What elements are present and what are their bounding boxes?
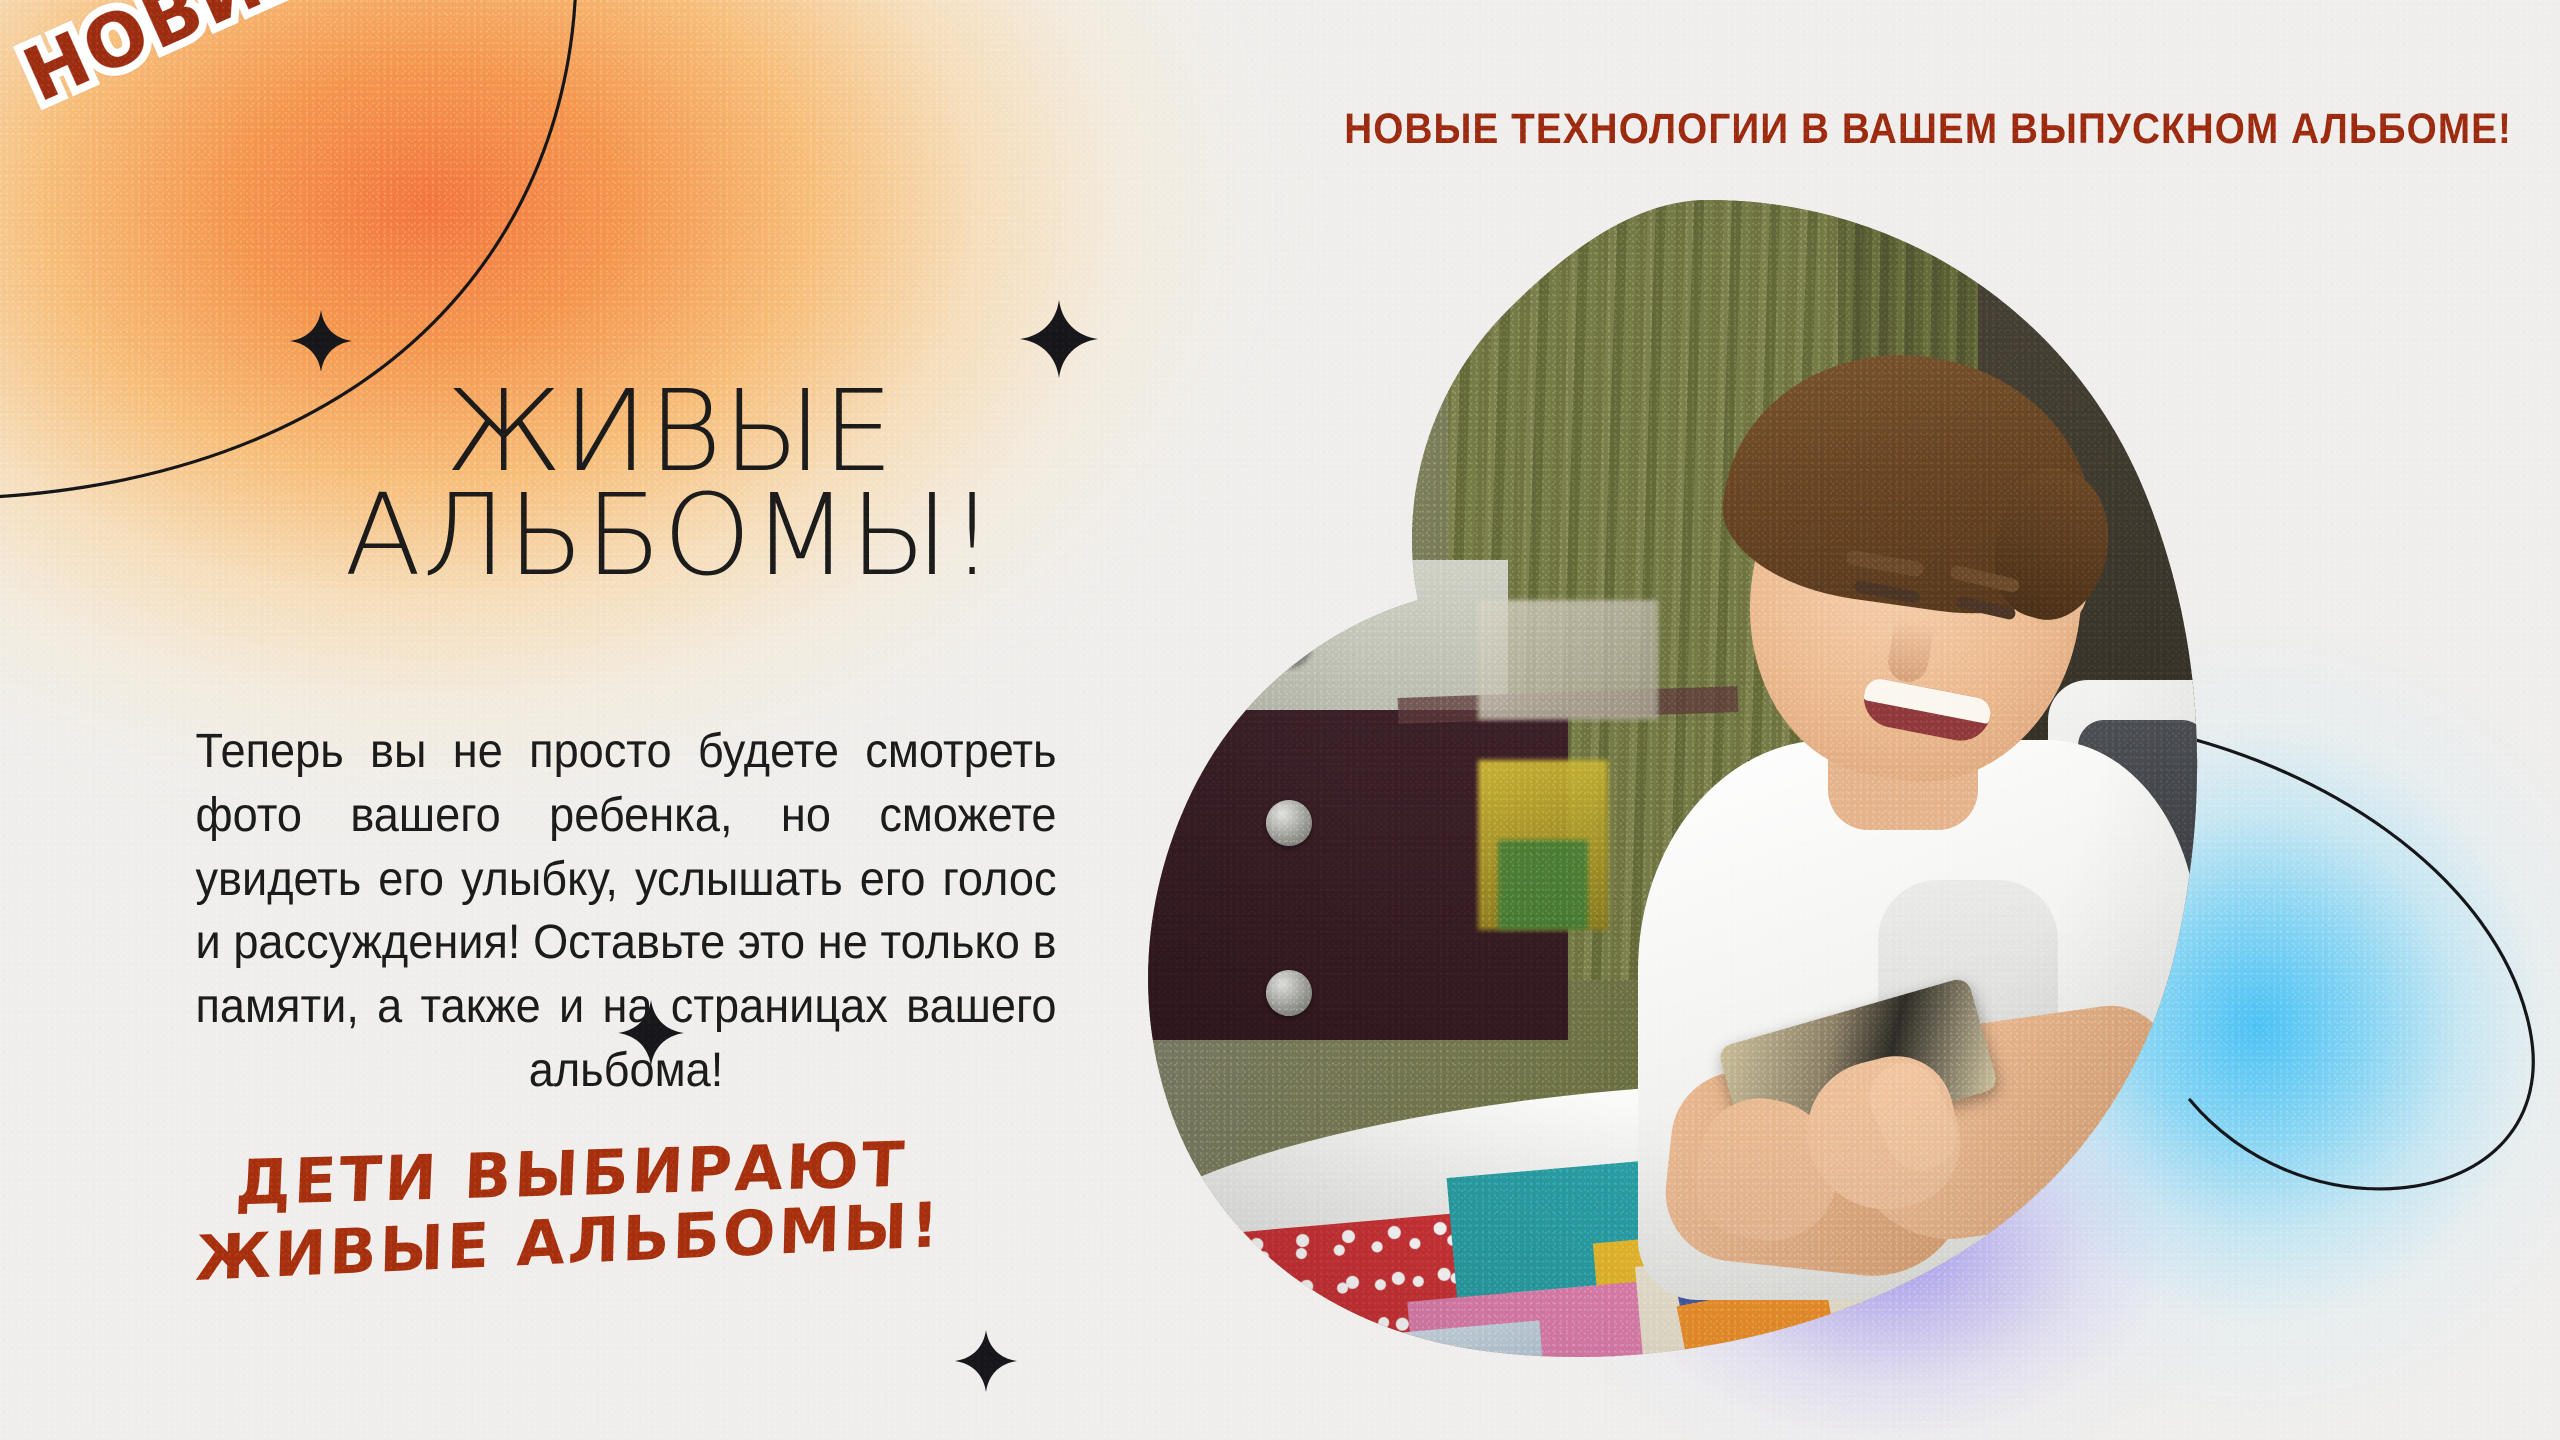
album-label-purple xyxy=(1997,1274,2114,1340)
novelty-badge: НОВИНКА! xyxy=(14,0,476,114)
tagline: НОВЫЕ ТЕХНОЛОГИИ В ВАШЕМ ВЫПУСКНОМ АЛЬБО… xyxy=(1072,105,2512,154)
photo-vignette xyxy=(1148,200,2208,1370)
slogan: ДЕТИ ВЫБИРАЮТ ЖИВЫЕ АЛЬБОМЫ! xyxy=(177,1129,962,1287)
lead-paragraph: Теперь вы не просто будете смотреть фото… xyxy=(195,720,1056,1103)
hero-photo xyxy=(1148,200,2208,1370)
page-title: ЖИВЫЕ АЛЬБОМЫ! xyxy=(300,380,1040,588)
sparkle-top-mid-icon xyxy=(1020,300,1098,378)
headline-line-1: ЖИВЫЕ xyxy=(300,380,1040,484)
sparkle-top-left-icon xyxy=(290,310,352,372)
headline-line-2: АЛЬБОМЫ! xyxy=(300,484,1040,588)
sparkle-bottom-left-icon xyxy=(955,1330,1017,1392)
album-photo-pair xyxy=(1908,1272,2108,1370)
promo-banner: НОВИНКА! НОВЫЕ ТЕХНОЛОГИИ В ВАШЕМ ВЫПУСК… xyxy=(0,0,2560,1440)
